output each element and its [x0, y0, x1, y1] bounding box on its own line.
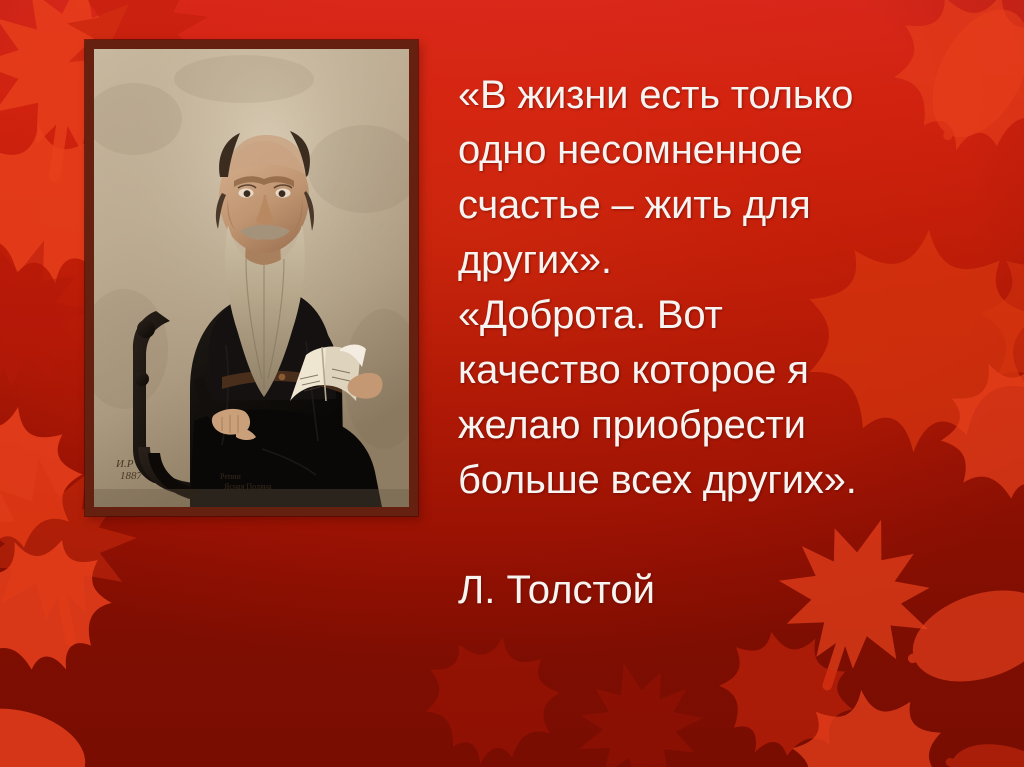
- text-spacer: [458, 508, 1018, 563]
- svg-text:1887: 1887: [120, 470, 143, 482]
- tolstoy-portrait-frame: И.Р 1887 Репин Ясная Поляна: [85, 40, 418, 516]
- quote-line: «Доброта. Вот: [458, 288, 1018, 343]
- quote-line: качество которое я: [458, 343, 1018, 398]
- quote-line: одно несомненное: [458, 123, 1018, 178]
- quote-line: больше всех других».: [458, 453, 1018, 508]
- svg-text:Репин: Репин: [220, 472, 241, 481]
- slide-root: И.Р 1887 Репин Ясная Поляна «В жизни ест…: [0, 0, 1024, 767]
- quote-line: «В жизни есть только: [458, 68, 1018, 123]
- quote-line: желаю приобрести: [458, 398, 1018, 453]
- quote-line: других».: [458, 233, 1018, 288]
- tolstoy-portrait-image: И.Р 1887 Репин Ясная Поляна: [94, 49, 409, 507]
- quote-attribution: Л. Толстой: [458, 563, 1018, 618]
- quote-text-block: «В жизни есть только одно несомненное сч…: [458, 68, 1018, 618]
- quote-line: счастье – жить для: [458, 178, 1018, 233]
- svg-text:И.Р: И.Р: [115, 458, 134, 470]
